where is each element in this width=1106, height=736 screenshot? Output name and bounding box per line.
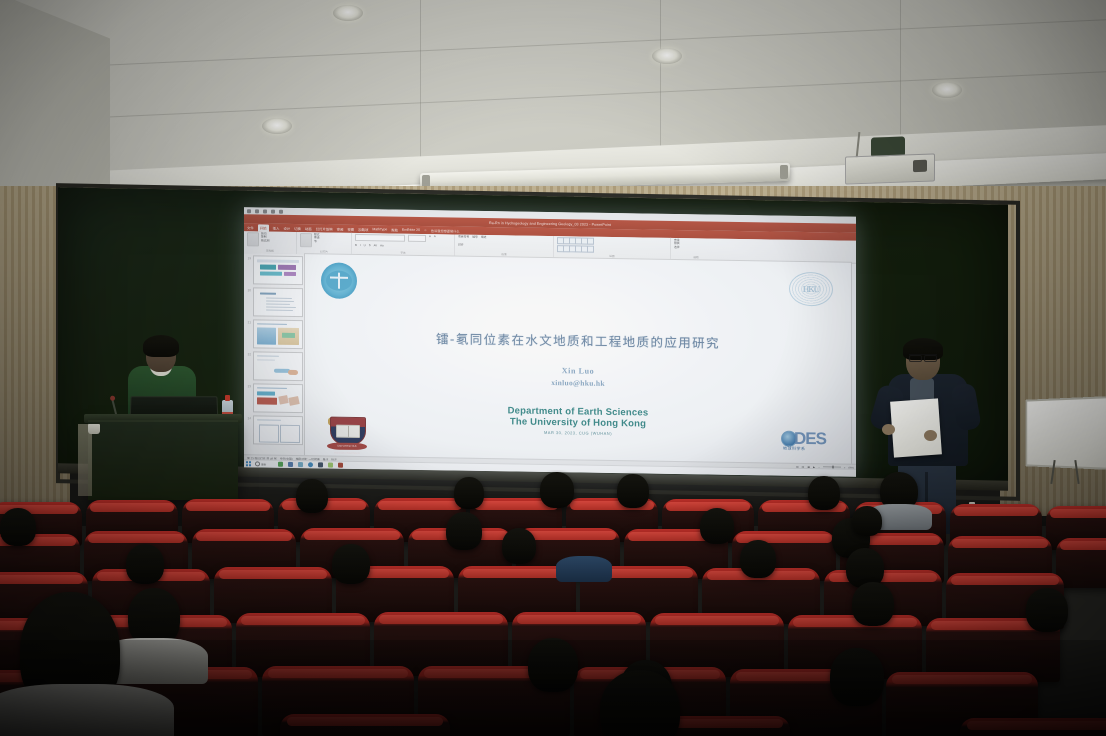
strikethrough-button[interactable]: S	[369, 244, 371, 247]
slide-thumbnail[interactable]	[253, 415, 303, 445]
bullets-button[interactable]: 项目符号	[458, 236, 469, 240]
audience-head	[332, 544, 370, 584]
paste-button[interactable]	[247, 232, 259, 246]
ribbon-group-slides[interactable]: 版式 重设 节 幻灯片	[297, 232, 352, 255]
new-slide-button[interactable]	[300, 233, 312, 247]
tab-mathtype[interactable]: MathType	[372, 227, 387, 231]
speaker-hair	[143, 335, 179, 357]
windows-start-icon[interactable]	[246, 461, 251, 466]
cug-logo-inner	[326, 270, 352, 290]
hku-crest-icon: UNIVERSITAS HONGKONGENSIS	[327, 408, 367, 451]
tab-endnote[interactable]: EndNote 20	[402, 228, 420, 232]
ribbon-group-label-clipboard: 剪贴板	[247, 248, 293, 253]
thumbnail-number: 23	[246, 383, 251, 388]
audience-head	[740, 540, 776, 578]
shape-gallery[interactable]	[557, 237, 667, 254]
thumbnail-row[interactable]: 20	[246, 287, 306, 317]
auditorium-seating	[0, 470, 1106, 736]
audience-head	[0, 508, 36, 546]
thumbnail-row[interactable]: 21	[246, 319, 306, 349]
tab-home[interactable]: 开始	[258, 224, 269, 231]
start-slideshow-icon[interactable]	[271, 209, 275, 213]
audience-head	[830, 648, 884, 706]
seat	[960, 718, 1106, 736]
seat	[280, 714, 450, 736]
thumbnail-number: 20	[246, 287, 251, 292]
crest-open-book	[336, 425, 360, 438]
slide-title: 镭-氡同位素在水文地质和工程地质的应用研究	[305, 326, 851, 354]
powerpoint-icon[interactable]	[338, 463, 343, 468]
shape-more-icon[interactable]	[587, 246, 594, 253]
tab-addins[interactable]: 加载项	[358, 226, 368, 231]
slide-thumbnail[interactable]	[253, 255, 303, 285]
redo-icon[interactable]	[263, 209, 267, 213]
audience-head	[528, 638, 578, 692]
format-painter-button[interactable]: 格式刷	[261, 239, 269, 243]
audience-head	[126, 544, 164, 584]
projected-powerpoint-window[interactable]: Ra-Rn in Hydrogeology and Engineering Ge…	[244, 207, 856, 477]
change-case-button[interactable]: Aa	[380, 244, 383, 247]
qq-icon[interactable]	[318, 462, 323, 467]
shape-star-icon[interactable]	[587, 238, 594, 245]
thumbnail-number: 19	[246, 255, 251, 260]
slide-thumbnail[interactable]	[253, 287, 303, 317]
audience-shoulders-foreground	[0, 684, 174, 736]
bold-button[interactable]: B	[355, 244, 357, 247]
presenter-left-hand	[882, 424, 895, 435]
thumbnail-row[interactable]: 24	[246, 415, 306, 445]
audience-head	[454, 477, 484, 509]
save-icon[interactable]	[247, 209, 251, 213]
explorer-icon[interactable]	[298, 462, 303, 467]
section-button[interactable]: 节	[314, 240, 320, 243]
flipchart-board	[1025, 396, 1106, 470]
ceiling-projector	[845, 143, 933, 182]
ribbon-group-clipboard[interactable]: 剪切 复制 格式刷 剪贴板	[244, 231, 297, 254]
undo-icon[interactable]	[255, 209, 259, 213]
ceiling-downlight	[652, 48, 682, 64]
seat	[1056, 538, 1106, 588]
taskbar-app-icons[interactable]	[278, 462, 343, 468]
audience-head	[540, 472, 574, 508]
wechat-icon[interactable]	[278, 462, 283, 467]
audience-head	[446, 512, 482, 550]
hku-oval-logo-text: HKU	[803, 284, 820, 294]
chrome-icon[interactable]	[308, 462, 313, 467]
customize-quick-access-icon[interactable]	[279, 209, 283, 213]
window-title: Ra-Rn in Hydrogeology and Engineering Ge…	[489, 221, 611, 227]
des-logo-chinese: 地球科学系	[783, 446, 806, 452]
ceiling-downlight	[333, 5, 363, 21]
presenter-glasses	[909, 354, 937, 360]
thumbnail-number: 24	[246, 415, 251, 420]
tab-review[interactable]: 审阅	[337, 226, 344, 231]
search-placeholder[interactable]: 搜索	[261, 462, 266, 466]
audience-head	[502, 528, 536, 564]
cug-university-logo-icon	[321, 262, 357, 299]
folder-icon[interactable]	[288, 462, 293, 467]
ribbon-group-font[interactable]: A A B I U S AV Aa 字体	[352, 233, 455, 257]
tab-slideshow[interactable]: 幻灯片放映	[316, 226, 333, 231]
tab-insert[interactable]: 插入	[273, 225, 280, 230]
thumbnail-number: 22	[246, 351, 251, 356]
note-icon[interactable]	[328, 463, 333, 468]
search-icon[interactable]	[255, 461, 260, 466]
tab-design[interactable]: 设计	[283, 225, 290, 230]
projector-lens	[913, 160, 927, 172]
tab-animations[interactable]: 动画	[305, 226, 312, 231]
slide-editing-area[interactable]: HKU 镭-氡同位素在水文地质和工程地质的应用研究 Xin Luo xinluo…	[304, 254, 852, 465]
character-spacing-button[interactable]: AV	[374, 244, 378, 247]
presenter-right-hand	[924, 430, 937, 441]
tell-me-box[interactable]: 告诉我您想要做什么	[431, 228, 460, 233]
audience-head	[852, 582, 894, 626]
slide-thumbnail[interactable]	[253, 383, 303, 413]
tab-view[interactable]: 视图	[347, 226, 354, 231]
lecture-hall-scene: Ra-Rn in Hydrogeology and Engineering Ge…	[0, 0, 1106, 736]
font-family-select[interactable]	[355, 234, 405, 242]
audience-shoulders	[556, 556, 612, 582]
align-button[interactable]: 对齐	[458, 244, 464, 247]
audience-head-foreground	[600, 670, 680, 736]
tab-transitions[interactable]: 切换	[294, 225, 301, 230]
slide-thumbnail[interactable]	[253, 319, 303, 349]
underline-button[interactable]: U	[364, 244, 366, 247]
audience-head	[852, 506, 882, 536]
roller-cap-right	[780, 165, 788, 179]
font-size-select[interactable]	[408, 235, 426, 242]
decrease-font-icon[interactable]: A	[434, 235, 436, 238]
lightbulb-icon[interactable]: ☼	[424, 228, 427, 232]
paper-cup	[88, 424, 100, 434]
thumbnail-number: 21	[246, 319, 251, 324]
taskbar-search-box[interactable]: 搜索	[255, 461, 266, 466]
crest-motto-ribbon: UNIVERSITAS HONGKONGENSIS	[327, 442, 367, 450]
audience-head	[296, 479, 328, 513]
slide-thumbnail[interactable]	[253, 351, 303, 381]
hku-oval-logo-icon: HKU	[789, 272, 833, 307]
ceiling-downlight	[932, 82, 962, 98]
thumbnail-row[interactable]: 22	[246, 351, 306, 381]
audience-head	[808, 476, 840, 510]
audience-head	[1026, 588, 1068, 632]
tab-help[interactable]: 帮助	[391, 227, 398, 232]
audience-head	[617, 474, 649, 508]
ribbon-group-editing[interactable]: 查找 替换 选择 编辑	[671, 238, 721, 261]
indent-button[interactable]: 缩进	[481, 236, 487, 239]
audience-head	[700, 508, 734, 544]
increase-font-icon[interactable]: A	[429, 235, 431, 238]
thumbnail-row[interactable]: 23	[246, 383, 306, 413]
slide-thumbnail-pane[interactable]: 19 20	[244, 253, 309, 456]
current-slide[interactable]: HKU 镭-氡同位素在水文地质和工程地质的应用研究 Xin Luo xinluo…	[304, 253, 852, 466]
thumbnail-row[interactable]: 19	[246, 255, 306, 285]
italic-button[interactable]: I	[360, 244, 361, 247]
select-button[interactable]: 选择	[674, 246, 718, 250]
ceiling-downlight	[262, 118, 292, 134]
ribbon-group-paragraph[interactable]: 项目符号 编号 缩进 对齐 段落	[455, 235, 554, 259]
tab-file[interactable]: 文件	[247, 225, 254, 230]
presenter-papers	[890, 398, 942, 457]
department-block: Department of Earth Sciences The Univers…	[305, 402, 851, 440]
numbering-button[interactable]: 编号	[472, 236, 478, 239]
des-department-logo-icon: DES 地球科学系	[781, 424, 835, 455]
ribbon-group-drawing[interactable]: 绘图	[554, 236, 671, 260]
